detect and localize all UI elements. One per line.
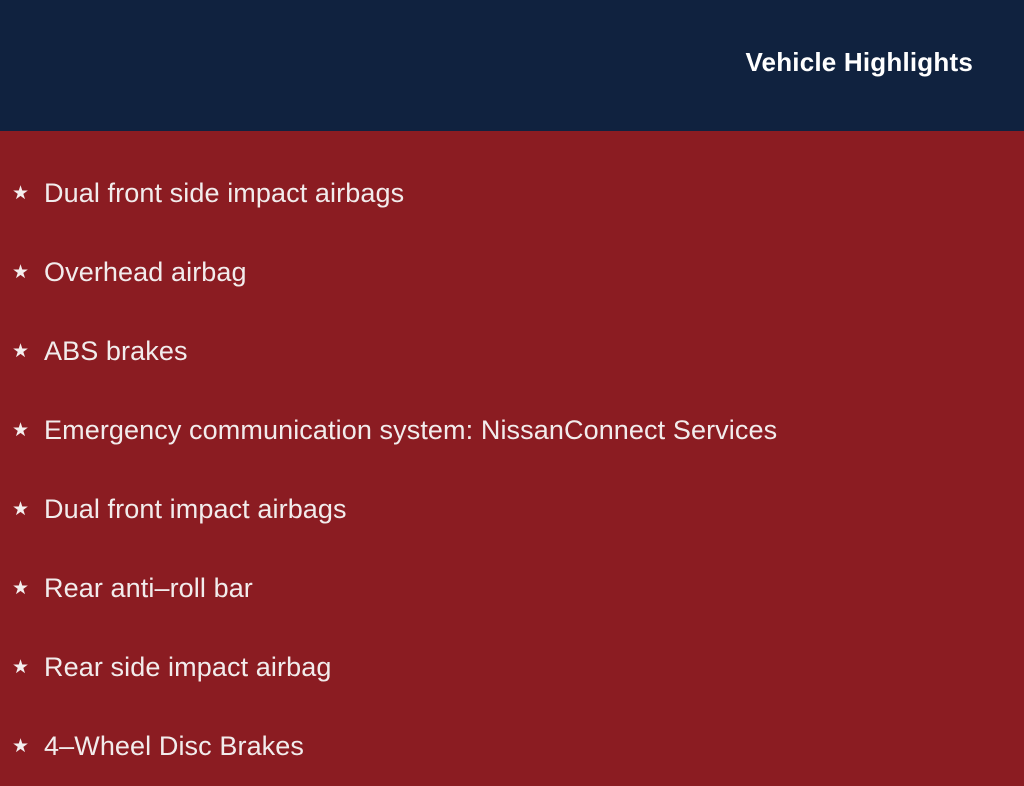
list-item: ★ Overhead airbag: [0, 233, 1024, 312]
list-item: ★ ABS brakes: [0, 312, 1024, 391]
slide-body: ★ Dual front side impact airbags ★ Overh…: [0, 131, 1024, 786]
list-item: ★ 4–Wheel Disc Brakes: [0, 707, 1024, 786]
star-bullet-icon: ★: [12, 658, 44, 677]
list-item-label: Rear side impact airbag: [44, 652, 1024, 682]
list-item-label: Rear anti–roll bar: [44, 573, 1024, 603]
list-item: ★ Dual front impact airbags: [0, 470, 1024, 549]
list-item: ★ Dual front side impact airbags: [0, 154, 1024, 233]
list-item-label: Dual front side impact airbags: [44, 178, 1024, 208]
list-item-label: 4–Wheel Disc Brakes: [44, 731, 1024, 761]
list-item-label: Dual front impact airbags: [44, 494, 1024, 524]
vehicle-highlights-list: ★ Dual front side impact airbags ★ Overh…: [0, 131, 1024, 786]
star-bullet-icon: ★: [12, 579, 44, 598]
list-item-label: Overhead airbag: [44, 257, 1024, 287]
star-bullet-icon: ★: [12, 737, 44, 756]
star-bullet-icon: ★: [12, 263, 44, 282]
star-bullet-icon: ★: [12, 184, 44, 203]
list-item: ★ Emergency communication system: Nissan…: [0, 391, 1024, 470]
slide-header: Vehicle Highlights: [0, 0, 1024, 131]
page-title: Vehicle Highlights: [745, 49, 973, 75]
list-item: ★ Rear anti–roll bar: [0, 549, 1024, 628]
vehicle-highlights-slide: Vehicle Highlights ★ Dual front side imp…: [0, 0, 1024, 768]
list-item-label: Emergency communication system: NissanCo…: [44, 415, 1024, 445]
list-item: ★ Rear side impact airbag: [0, 628, 1024, 707]
star-bullet-icon: ★: [12, 500, 44, 519]
star-bullet-icon: ★: [12, 342, 44, 361]
list-item-label: ABS brakes: [44, 336, 1024, 366]
star-bullet-icon: ★: [12, 421, 44, 440]
